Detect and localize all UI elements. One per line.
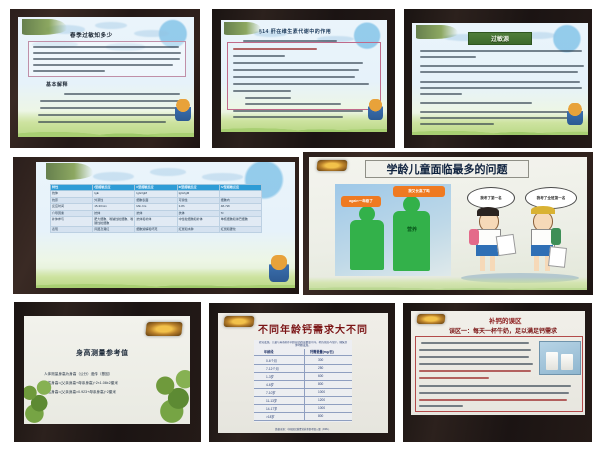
bullet-2: 男性身高=(父亲身高+母亲身高)÷2×1.08±2厘米 [44,381,118,386]
table-divider [254,372,352,373]
calcium-row-age: >18岁 [266,414,275,419]
bullet-3: 女性身高=(父亲身高×0.923+母亲身高)÷2厘米 [44,390,116,395]
student-girl-hair [477,207,499,216]
student-girl-leg [480,256,485,271]
report-card-icon [496,234,517,256]
projected-slide: 过敏源 [412,23,588,135]
report-card-icon [548,246,567,268]
cloud-icon [150,168,186,176]
table-cell: 单核细胞和淋巴细胞 [219,217,261,227]
speech-bubble-2: 我又长高了吗 [393,186,445,197]
slide-title: 身高测量参考值 [76,348,129,358]
student-girl-backpack [469,229,479,245]
photo-collage: 春季过敏知多少 基本解释 §14 肝在维生素代 [0,0,600,450]
slide-title: 学龄儿童面临最多的问题 [365,160,529,178]
brand-logo-icon [316,160,347,171]
speech-bubble-1: again一年级了 [341,196,381,207]
hypersensitivity-comparison-table: 特性I型超敏反应II型超敏反应III型超敏反应IV型超敏反应 抗体IgEIgG/… [50,184,262,233]
calcium-requirement-table: 研究发现，儿童与青春期不同阶段钙的需求量不同，补钙须因人而异，确保身体均衡发展。… [254,340,352,422]
table-cell: 表现 [51,227,93,233]
leaf-decoration-icon [46,163,93,179]
calcium-row-amount: 250 [318,366,323,370]
table-cell: 补体参与 [51,217,93,227]
silhouette-label: 营养 [403,224,421,236]
leaf-decoration-icon [224,22,261,34]
table-note-top: 研究发现，儿童与青春期不同阶段钙的需求量不同，补钙须因人而异，确保身体均衡发展。 [258,341,348,348]
photo-4-hypersensitivity-table[interactable]: 特性I型超敏反应II型超敏反应III型超敏反应IV型超敏反应 抗体IgEIgG/… [13,157,299,294]
table-cell: 红斑和硬化 [219,227,261,233]
grass-decoration [36,268,295,288]
mascot-icon [175,99,191,121]
student-boy-backpack [551,228,561,245]
slide-subtitle: 误区一：每天一杯牛奶，足以满足钙需求 [449,326,557,335]
grass-decoration [309,277,587,290]
silhouette-body-short [350,220,384,270]
calcium-row-age: 7-10岁 [266,390,276,395]
milk-glass-icon [546,352,558,370]
table-divider [254,380,352,381]
projected-slide: 春季过敏知多少 基本解释 [18,17,194,137]
projected-slide: §14 肝在维生素代谢中的作用 [221,20,387,132]
mascot-icon [567,103,583,125]
table-cell: 肥大细胞、嗜碱性粒细胞、嗜酸性粒细胞 [93,217,135,227]
cloud-icon [95,22,127,29]
calcium-row-amount: 1000 [318,390,325,394]
table-row: 补体参与肥大细胞、嗜碱性粒细胞、嗜酸性粒细胞抗体和补体中性粒细胞和补体单核细胞和… [51,217,262,227]
calcium-col-header-amount: 钙需要量(mg/日) [310,349,334,354]
mascot-icon [269,255,289,282]
calcium-row-age: 1-3岁 [266,374,274,379]
calcium-row-age: 11-13岁 [266,398,277,403]
table-cell: 红斑和水肿 [177,227,219,233]
student-girl-leg [490,256,495,271]
calcium-col-header-age: 年龄段 [264,349,274,354]
cartoon-students-illustration: 我考了第一名 我考了全班第一名 [461,185,581,285]
photo-7-calcium-by-age[interactable]: 不同年龄钙需求大不同 研究发现，儿童与青春期不同阶段钙的需求量不同，补钙须因人而… [209,303,395,442]
cloud-icon [93,172,134,181]
table-row: 表现风团及潮红细胞溶解和坏死红斑和水肿红斑和硬化 [51,227,262,233]
calcium-row-amount: 300 [318,358,323,362]
calcium-row-amount: 1200 [318,398,325,402]
section-heading: 基本解释 [46,81,68,88]
slide-header-badge: 过敏源 [468,32,532,45]
speech-bubble-3: 我考了第一名 [467,187,515,209]
student-boy-cap-icon [531,206,555,214]
mascot-icon [368,99,383,120]
photo-2-vitamin-metabolism[interactable]: §14 肝在维生素代谢中的作用 [212,9,395,148]
body-text-box [28,41,186,77]
brand-logo-icon [145,322,182,336]
table-divider [254,396,352,397]
photo-5-school-age-problems[interactable]: 学龄儿童面临最多的问题 营养 again一年级了 我又长高了吗 我考了第一名 我… [303,152,593,295]
photo-8-calcium-myths[interactable]: 补钙的误区 误区一：每天一杯牛奶，足以满足钙需求 [403,303,592,442]
slide-title: 春季过敏知多少 [70,31,113,39]
milk-glass-icon [561,354,573,370]
calcium-row-age: 7-12个月 [266,366,279,371]
slide-title: 补钙的误区 [489,315,522,325]
silhouette-panel: 营养 again一年级了 我又长高了吗 [335,184,451,276]
leaf-decoration-icon [416,25,458,38]
speech-bubble-4: 我考了全班第一名 [525,187,577,209]
table-divider [254,388,352,389]
table-note-bottom: 数据来源：中国居民膳食营养素参考摄入量（DRIs） [254,427,352,431]
table-divider [254,420,352,421]
photo-6-height-reference[interactable]: 身高测量参考值 人体测量身高为身高（公分）遗传（基因） 男性身高=(父亲身高+母… [14,302,201,442]
projected-slide: 补钙的误区 误区一：每天一杯牛奶，足以满足钙需求 [411,311,585,415]
calcium-row-amount: 1000 [318,406,325,410]
calcium-row-age: 0-6个月 [266,358,277,363]
table-divider [254,355,352,356]
table-cell: 细胞溶解和坏死 [135,227,177,233]
projected-slide: 不同年龄钙需求大不同 研究发现，儿童与青春期不同阶段钙的需求量不同，补钙须因人而… [218,313,388,433]
slide-title: §14 肝在维生素代谢中的作用 [259,28,331,35]
projected-slide: 特性I型超敏反应II型超敏反应III型超敏反应IV型超敏反应 抗体IgEIgG/… [36,162,295,288]
brand-logo-icon [416,314,445,324]
bush-decoration-icon [24,372,52,424]
projected-slide: 身高测量参考值 人体测量身高为身高（公分）遗传（基因） 男性身高=(父亲身高+母… [24,316,190,424]
grass-decoration [221,112,387,132]
silhouette-body-tall [393,211,430,271]
brand-logo-icon [223,316,254,327]
table-cell: 抗体和补体 [135,217,177,227]
milk-photo [539,341,581,375]
calcium-row-amount: 800 [318,382,323,386]
table-vertical-divider [304,349,305,421]
slide-title: 不同年龄钙需求大不同 [258,321,368,336]
calcium-row-age: 14-17岁 [266,406,277,411]
cloud-icon [202,173,243,181]
table-cell: 中性粒细胞和补体 [177,217,219,227]
photo-3-allergens[interactable]: 过敏源 [404,9,592,148]
calcium-row-amount: 600 [318,374,323,378]
projected-slide: 学龄儿童面临最多的问题 营养 again一年级了 我又长高了吗 我考了第一名 我… [309,157,587,290]
table-divider [254,412,352,413]
bush-decoration-icon [152,360,190,424]
bullet-1: 人体测量身高为身高（公分）遗传（基因） [44,372,112,377]
calcium-row-amount: 800 [318,414,323,418]
table-divider [254,404,352,405]
leaf-decoration-icon [22,19,68,35]
calcium-row-age: 4-6岁 [266,382,274,387]
table-divider [254,364,352,365]
student-boy-leg [534,256,539,271]
photo-1-spring-allergy[interactable]: 春季过敏知多少 基本解释 [10,9,200,148]
table-cell: 风团及潮红 [93,227,135,233]
